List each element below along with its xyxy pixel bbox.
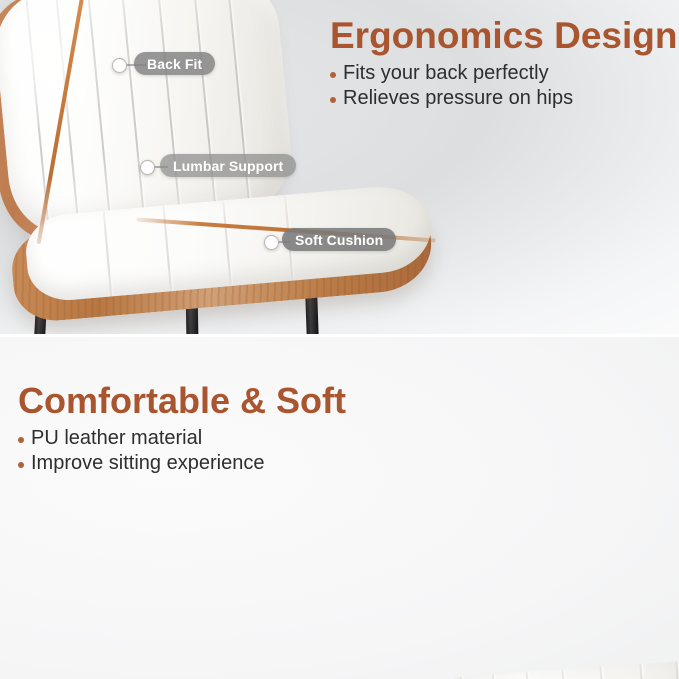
comfort-headline: Comfortable & Soft (18, 382, 348, 420)
panel-comfort: Comfortable & Soft PU leather material I… (0, 337, 679, 679)
ergonomics-text-block: Ergonomics Design Fits your back perfect… (330, 16, 676, 112)
comfort-text-block: Comfortable & Soft PU leather material I… (18, 382, 348, 477)
chair-backrest-leather-bottom (434, 660, 679, 679)
list-item: Relieves pressure on hips (330, 86, 676, 111)
callout-label-back-fit[interactable]: Back Fit (134, 52, 215, 75)
product-infographic: Back Fit Lumbar Support Soft Cushion Erg… (0, 0, 679, 679)
callout-dot-lumbar-support (140, 160, 155, 175)
callout-dot-back-fit (112, 58, 127, 73)
list-item: PU leather material (18, 426, 348, 451)
callout-label-soft-cushion[interactable]: Soft Cushion (282, 228, 396, 251)
callout-label-lumbar-support[interactable]: Lumbar Support (160, 154, 296, 177)
ergonomics-bullet-list: Fits your back perfectly Relieves pressu… (330, 61, 676, 111)
ergonomics-headline: Ergonomics Design (330, 16, 676, 55)
panel-divider (0, 334, 679, 337)
list-item: Fits your back perfectly (330, 61, 676, 86)
comfort-bullet-list: PU leather material Improve sitting expe… (18, 426, 348, 476)
list-item: Improve sitting experience (18, 451, 348, 476)
callout-dot-soft-cushion (264, 235, 279, 250)
panel-ergonomics: Back Fit Lumbar Support Soft Cushion Erg… (0, 0, 679, 334)
